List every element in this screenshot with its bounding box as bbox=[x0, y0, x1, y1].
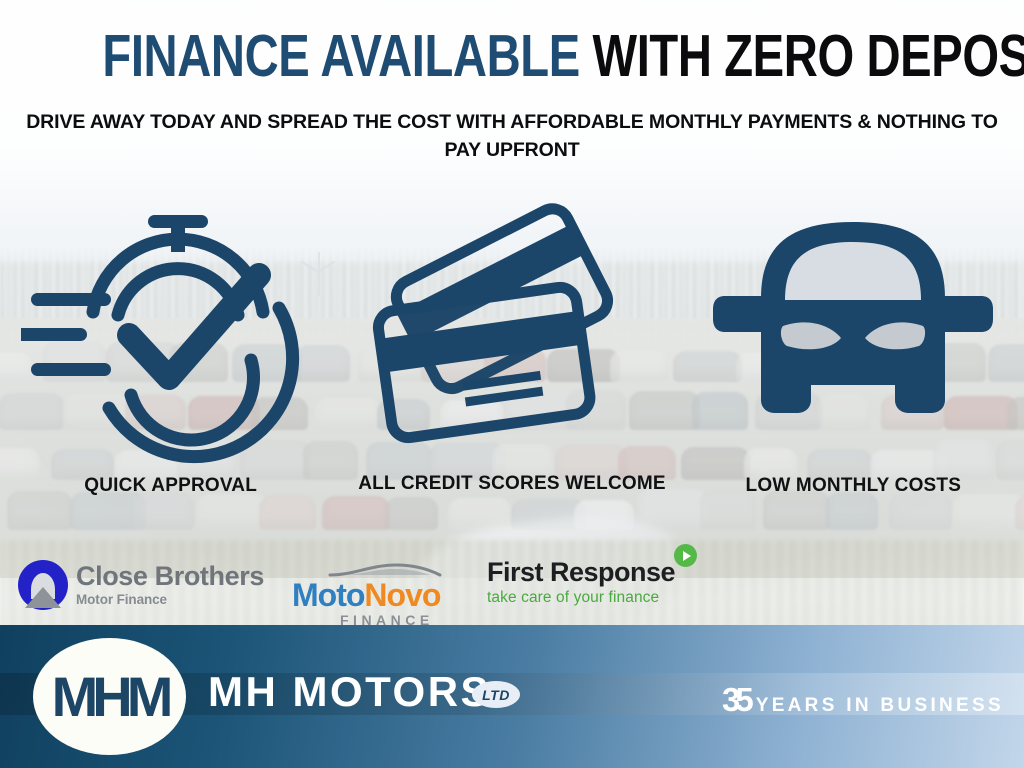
footer-bar: MHM MH MOTORS LTD 35 YEARS IN BUSINESS bbox=[0, 625, 1024, 768]
feature-all-credit-scores: ALL CREDIT SCORES WELCOME bbox=[341, 200, 682, 530]
partner-name: First Response bbox=[487, 558, 675, 587]
years-number: 35 bbox=[722, 683, 749, 716]
feature-caption: QUICK APPROVAL bbox=[84, 475, 257, 497]
partner-name-part2: Novo bbox=[364, 577, 440, 613]
partner-logo-motonovo: MotoNovo FINANCE bbox=[292, 562, 444, 628]
years-in-business: 35 YEARS IN BUSINESS bbox=[722, 683, 1004, 717]
ltd-label: LTD bbox=[482, 687, 510, 703]
feature-low-monthly-costs: LOW MONTHLY COSTS bbox=[683, 200, 1024, 530]
partner-name-part1: Moto bbox=[292, 577, 364, 613]
headline: FINANCE AVAILABLE WITH ZERO DEPOSIT bbox=[0, 26, 1024, 86]
partner-logos: Close Brothers Motor Finance MotoNovo FI… bbox=[0, 556, 1024, 626]
subheading: DRIVE AWAY TODAY AND SPREAD THE COST WIT… bbox=[17, 108, 1007, 164]
headline-secondary: WITH ZERO DEPOSIT bbox=[593, 23, 1024, 89]
stopwatch-check-icon bbox=[0, 200, 341, 475]
car-front-icon bbox=[683, 200, 1024, 475]
finance-promo-banner: FINANCE AVAILABLE WITH ZERO DEPOSIT DRIV… bbox=[0, 0, 1024, 768]
feature-caption: ALL CREDIT SCORES WELCOME bbox=[358, 473, 666, 495]
feature-quick-approval: QUICK APPROVAL bbox=[0, 200, 341, 530]
partner-name: Close Brothers bbox=[76, 563, 264, 590]
feature-caption: LOW MONTHLY COSTS bbox=[746, 475, 962, 497]
company-name: MH MOTORS bbox=[208, 671, 491, 713]
motonovo-car-icon bbox=[326, 562, 444, 579]
mhm-logo-badge: MHM bbox=[33, 638, 186, 755]
partner-logo-first-response: First Response take care of your finance bbox=[487, 558, 675, 607]
play-arrow-icon bbox=[674, 544, 697, 567]
feature-list: QUICK APPROVAL bbox=[0, 200, 1024, 530]
ltd-badge: LTD bbox=[472, 681, 520, 708]
mhm-logo-initials: MHM bbox=[52, 669, 168, 725]
partner-tagline: take care of your finance bbox=[487, 589, 659, 607]
headline-primary: FINANCE AVAILABLE bbox=[102, 23, 579, 89]
close-brothers-icon bbox=[18, 560, 68, 610]
partner-tagline: Motor Finance bbox=[76, 593, 264, 607]
partner-logo-close-brothers: Close Brothers Motor Finance bbox=[18, 560, 264, 610]
years-label: YEARS IN BUSINESS bbox=[756, 695, 1004, 717]
credit-cards-icon bbox=[341, 200, 682, 475]
